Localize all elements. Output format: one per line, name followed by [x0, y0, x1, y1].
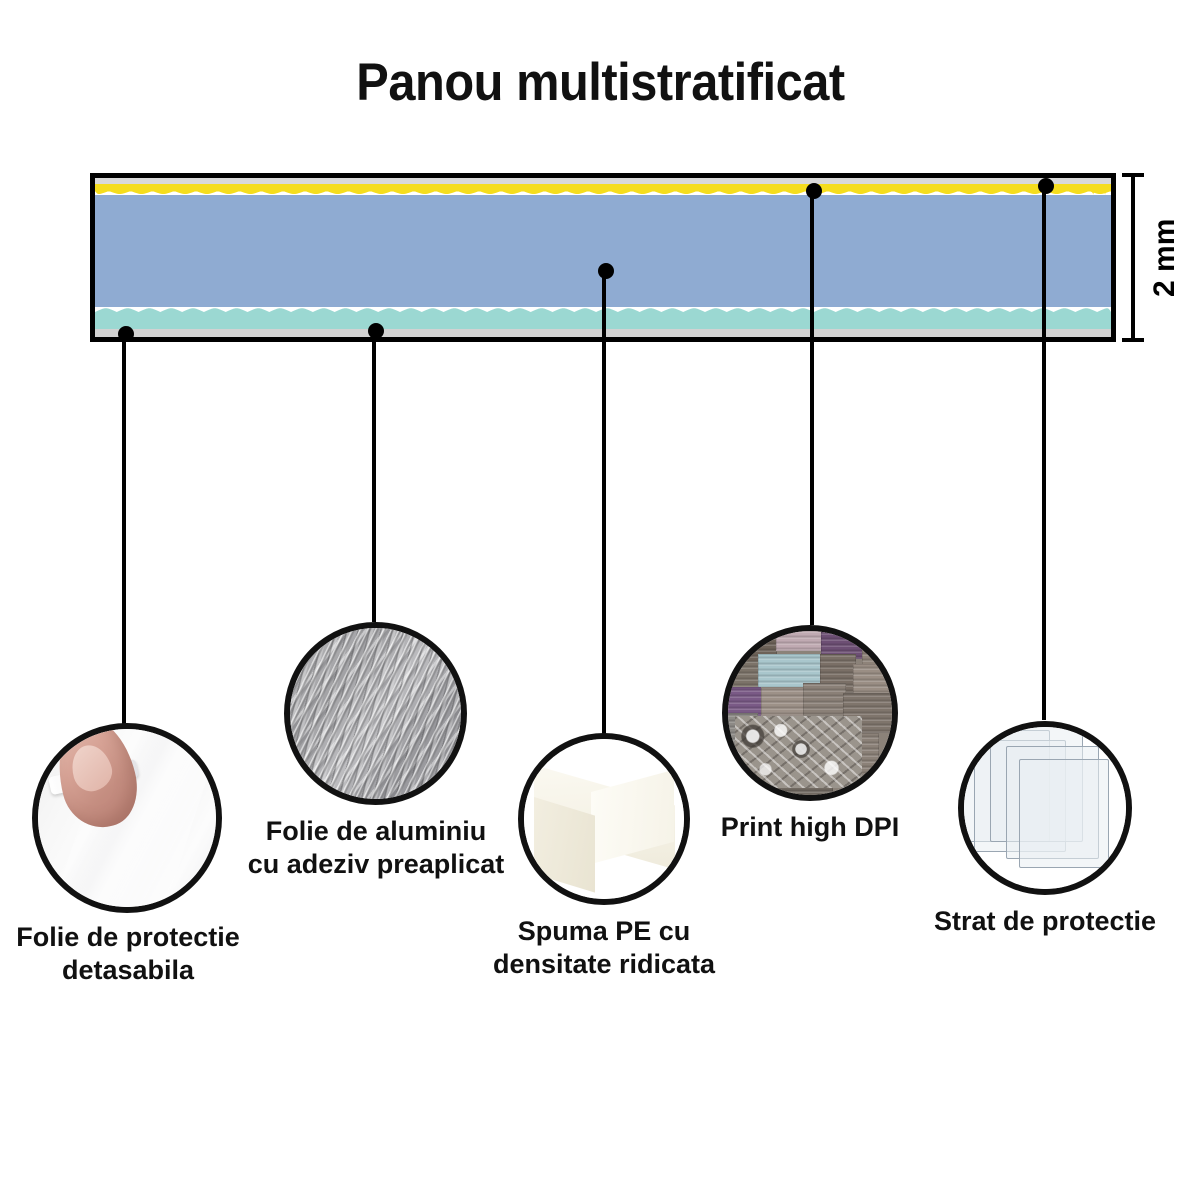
- callout-image-protective-coating: [958, 721, 1132, 895]
- clear-sheets-swatch: [964, 727, 1126, 889]
- wood-plank: [803, 683, 846, 716]
- carved-ornament-motif: [735, 716, 863, 788]
- callout-high-dpi-print[interactable]: Print high DPI: [722, 625, 898, 801]
- clear-sheet: [1019, 759, 1108, 868]
- leader-line-pe-foam: [602, 271, 606, 736]
- callout-image-aluminium-foil: [284, 622, 467, 805]
- wood-plank: [761, 687, 807, 717]
- yellow-layer-shape: [95, 184, 1111, 195]
- layer-yellow-adhesive: [95, 184, 1111, 195]
- brushed-aluminium-swatch: [290, 628, 461, 799]
- pe-foam-block-swatch: [524, 739, 684, 899]
- peeling-film-swatch: [38, 729, 216, 907]
- dimension-label: 2 mm: [1138, 173, 1192, 342]
- leader-line-high-dpi-print: [810, 191, 814, 625]
- callout-caption-protective-film: Folie de protectie detasabila: [0, 921, 256, 987]
- leader-dot-high-dpi-print: [806, 183, 822, 199]
- leader-dot-aluminium-foil: [368, 323, 384, 339]
- leader-line-protective-film: [122, 334, 126, 726]
- callout-aluminium-foil[interactable]: Folie de aluminiu cu adeziv preaplicat: [284, 622, 467, 805]
- callout-image-pe-foam: [518, 733, 690, 905]
- wood-plank: [722, 687, 764, 717]
- page-title: Panou multistratificat: [48, 52, 1153, 113]
- callout-pe-foam[interactable]: Spuma PE cu densitate ridicata: [518, 733, 690, 905]
- leader-dot-protective-coating: [1038, 178, 1054, 194]
- callout-caption-pe-foam: Spuma PE cu densitate ridicata: [472, 915, 736, 981]
- leader-dot-protective-film: [118, 326, 134, 342]
- callout-caption-aluminium-foil: Folie de aluminiu cu adeziv preaplicat: [244, 815, 508, 881]
- callout-caption-high-dpi-print: Print high DPI: [666, 811, 954, 844]
- callout-caption-protective-coating: Strat de protectie: [910, 905, 1180, 938]
- callout-protective-coating[interactable]: Strat de protectie: [958, 721, 1132, 895]
- leader-dot-pe-foam: [598, 263, 614, 279]
- leader-line-aluminium-foil: [372, 331, 376, 622]
- callout-image-high-dpi-print: [722, 625, 898, 801]
- leader-line-protective-coating: [1042, 186, 1046, 720]
- callout-image-protective-film: [32, 723, 222, 913]
- callout-protective-film[interactable]: Folie de protectie detasabila: [32, 723, 222, 913]
- dimension-marker-thickness: 2 mm: [1122, 173, 1192, 342]
- wood-patchwork-swatch: [728, 631, 892, 795]
- wood-plank: [776, 625, 827, 651]
- dimension-line: [1131, 175, 1135, 340]
